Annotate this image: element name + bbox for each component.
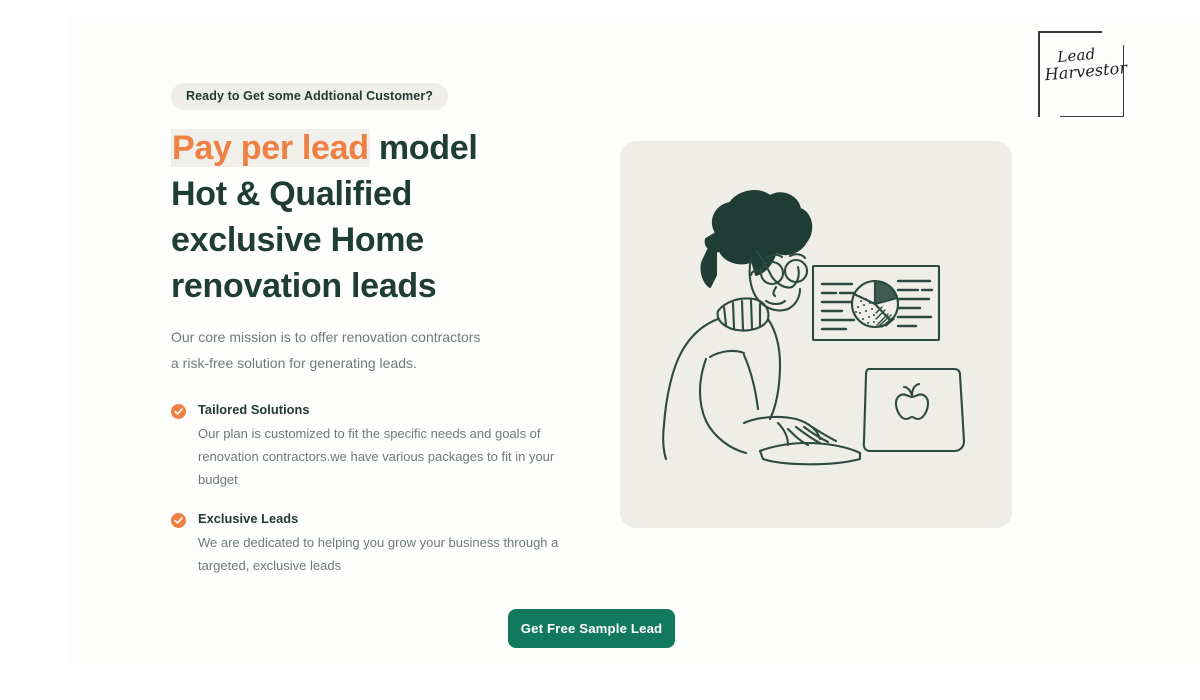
brand-logo[interactable]: Lead Harvestor bbox=[1038, 31, 1124, 117]
feature-title: Tailored Solutions bbox=[198, 402, 581, 417]
feature-item: Exclusive Leads We are dedicated to help… bbox=[171, 511, 581, 577]
get-free-sample-lead-button[interactable]: Get Free Sample Lead bbox=[508, 609, 675, 648]
headline-highlight: Pay per lead bbox=[171, 129, 370, 167]
check-circle-icon bbox=[171, 404, 186, 419]
landing-page: Lead Harvestor Ready to Get some Addtion… bbox=[0, 0, 1200, 700]
person-at-laptop-with-dashboard-illustration bbox=[620, 141, 1012, 528]
check-circle-icon bbox=[171, 513, 186, 528]
feature-body: Our plan is customized to fit the specif… bbox=[198, 422, 576, 491]
feature-item: Tailored Solutions Our plan is customize… bbox=[171, 402, 581, 491]
hero-left-column: Ready to Get some Addtional Customer? Pa… bbox=[171, 83, 581, 577]
hero-description: Our core mission is to offer renovation … bbox=[171, 325, 483, 376]
hero-badge: Ready to Get some Addtional Customer? bbox=[171, 83, 448, 110]
page-title: Pay per lead model Hot & Qualified exclu… bbox=[171, 125, 581, 309]
feature-title: Exclusive Leads bbox=[198, 511, 581, 526]
feature-list: Tailored Solutions Our plan is customize… bbox=[171, 402, 581, 577]
feature-body: We are dedicated to helping you grow you… bbox=[198, 531, 576, 577]
logo-wordmark: Lead Harvestor bbox=[1043, 44, 1122, 84]
